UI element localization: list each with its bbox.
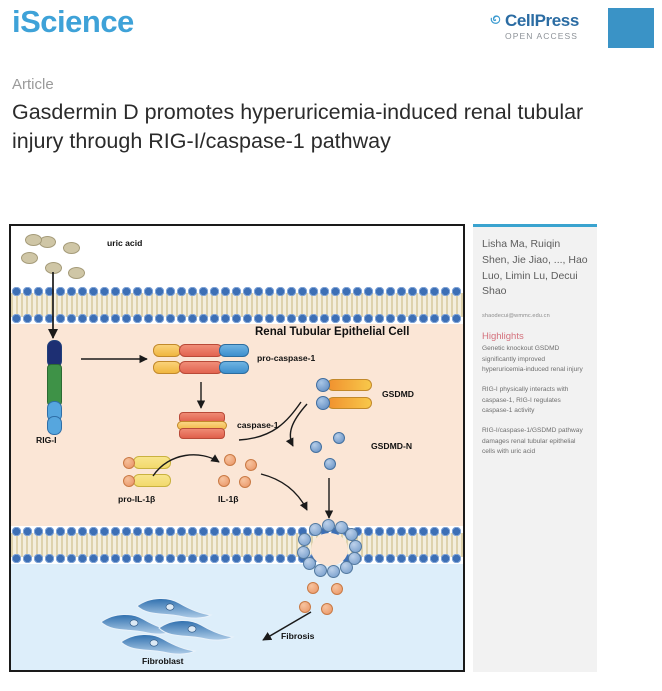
header-accent-block	[608, 8, 654, 48]
pore-subunit	[322, 519, 335, 532]
gsdmd-n-terminal	[316, 378, 330, 392]
gsdmd-protein	[316, 378, 372, 412]
highlight-item: RIG-I physically interacts with caspase-…	[482, 385, 588, 417]
pore-subunit	[309, 523, 322, 536]
gsdmd-n-monomer	[310, 441, 322, 453]
il1b-released-particle	[321, 603, 333, 615]
caspase-1-p20-lower	[179, 428, 225, 439]
il1b-particle	[245, 459, 257, 471]
publisher-tagline: OPEN ACCESS	[505, 31, 599, 41]
caspase-p10-segment	[219, 361, 249, 374]
gsdmd-n-monomer	[324, 458, 336, 470]
il1b-released-particle	[307, 582, 319, 594]
graphical-abstract-page: iScience CellPress OPEN ACCESS Article G…	[0, 0, 662, 691]
pro-il1b-complex	[123, 456, 171, 488]
pro-caspase-1-monomer	[153, 344, 249, 357]
uric-acid-particle	[63, 242, 80, 254]
gsdmd-membrane-pore	[296, 519, 362, 579]
article-info-sidebar: Lisha Ma, Ruiqin Shen, Jie Jiao, ..., Ha…	[473, 224, 597, 672]
pro-il1b-body	[133, 474, 171, 487]
rig-i-tail-domain	[47, 416, 62, 435]
rig-i-label: RIG-I	[36, 435, 57, 445]
fibroblast-cell	[159, 620, 233, 640]
pro-il1b-head	[123, 475, 135, 487]
uric-acid-label: uric acid	[107, 238, 142, 248]
gsdmd-monomer	[316, 378, 372, 392]
highlight-item: Genetic knockout GSDMD significantly imp…	[482, 344, 588, 376]
fibroblast-group	[99, 594, 275, 658]
pro-caspase-1-complex	[153, 344, 249, 376]
rig-i-helicase-domain	[47, 364, 62, 406]
membrane-heads-outer	[11, 553, 463, 564]
pore-subunit	[303, 557, 316, 570]
il1b-label: IL-1β	[218, 494, 239, 504]
pro-il1b-monomer	[123, 474, 171, 487]
gsdmd-c-terminal	[327, 379, 372, 391]
il1b-released-particle	[299, 601, 311, 613]
caspase-card-segment	[153, 361, 181, 374]
pore-subunit	[340, 561, 353, 574]
cellpress-swirl-icon	[487, 13, 502, 28]
gsdmd-label: GSDMD	[382, 389, 414, 399]
correspondence-email[interactable]: shaodecui@wmmc.edu.cn	[482, 313, 588, 319]
fibroblast-cell	[121, 634, 195, 654]
basal-membrane	[11, 526, 463, 564]
gsdmd-c-terminal	[327, 397, 372, 409]
fibroblast-label: Fibroblast	[142, 656, 184, 666]
fibroblast-cell	[137, 598, 211, 618]
pro-il1b-monomer	[123, 456, 171, 469]
pro-il1b-head	[123, 457, 135, 469]
highlight-item: RIG-I/caspase-1/GSDMD pathway damages re…	[482, 426, 588, 458]
il1b-particle	[218, 475, 230, 487]
caspase-p10-segment	[219, 344, 249, 357]
page-header: iScience CellPress OPEN ACCESS	[0, 0, 662, 60]
caspase-p20-segment	[179, 344, 223, 357]
journal-logo: iScience	[12, 4, 134, 40]
article-type-kicker: Article	[12, 76, 54, 93]
il1b-particle	[239, 476, 251, 488]
gsdmd-n-label: GSDMD-N	[371, 441, 412, 451]
apical-membrane	[11, 286, 463, 324]
pore-subunit	[349, 540, 362, 553]
membrane-heads-inner	[11, 313, 463, 324]
uric-acid-particle	[68, 267, 85, 279]
gsdmd-n-monomer	[333, 432, 345, 444]
figure-canvas: Renal Tubular Epithelial Cell uric acid …	[11, 226, 463, 670]
membrane-heads-inner	[11, 526, 463, 537]
pore-subunit	[327, 565, 340, 578]
caspase-1-label: caspase-1	[237, 420, 279, 430]
uric-acid-particle	[21, 252, 38, 264]
il1b-particle	[224, 454, 236, 466]
caspase-card-segment	[153, 344, 181, 357]
fibrosis-label: Fibrosis	[281, 631, 314, 641]
pro-caspase-1-label: pro-caspase-1	[257, 353, 315, 363]
page-title: Gasdermin D promotes hyperuricemia-induc…	[12, 98, 602, 155]
highlights-heading: Highlights	[482, 331, 588, 342]
pore-subunit	[314, 564, 327, 577]
publisher-logo: CellPress OPEN ACCESS	[487, 12, 599, 41]
pro-il1b-label: pro-IL-1β	[118, 494, 155, 504]
rig-i-protein	[47, 340, 60, 432]
author-list: Lisha Ma, Ruiqin Shen, Jie Jiao, ..., Ha…	[482, 237, 588, 300]
graphical-abstract-figure: Renal Tubular Epithelial Cell uric acid …	[9, 224, 465, 672]
il1b-released-particle	[331, 583, 343, 595]
gsdmd-monomer	[316, 396, 372, 410]
pro-caspase-1-monomer	[153, 361, 249, 374]
membrane-heads-outer	[11, 286, 463, 297]
pore-subunit	[298, 533, 311, 546]
uric-acid-particle	[45, 262, 62, 274]
uric-acid-particle	[25, 234, 42, 246]
cell-type-label: Renal Tubular Epithelial Cell	[255, 326, 409, 338]
gsdmd-n-terminal	[316, 396, 330, 410]
pro-il1b-body	[133, 456, 171, 469]
pore-subunit	[297, 546, 310, 559]
caspase-p20-segment	[179, 361, 223, 374]
caspase-1-complex	[177, 412, 227, 439]
publisher-name: CellPress	[505, 12, 579, 29]
